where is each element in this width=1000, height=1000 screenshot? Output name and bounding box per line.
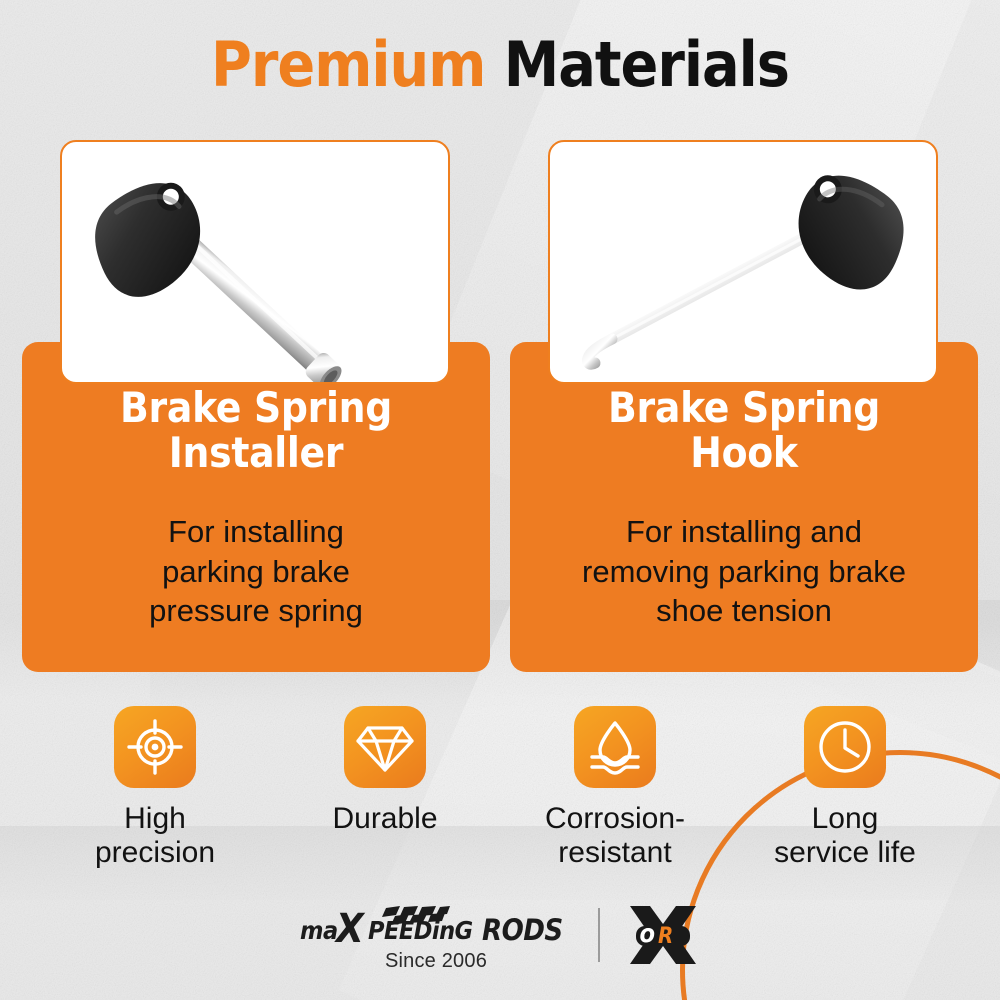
feature-label: Long service life [774, 802, 916, 869]
since-label: Since 2006 [385, 950, 487, 973]
brake-spring-installer-illustration [62, 142, 448, 382]
infographic-canvas: Premium Materials Brake Spring Installer… [0, 0, 1000, 1000]
target-icon [114, 706, 196, 788]
svg-text:PEEDinG: PEEDinG [368, 916, 473, 945]
product-title-installer: Brake Spring Installer [22, 386, 490, 475]
svg-text:X: X [334, 906, 366, 948]
water-drop-icon [574, 706, 656, 788]
feature-label: Durable [332, 802, 437, 836]
title-highlight: Premium [211, 28, 485, 101]
clock-icon [804, 706, 886, 788]
svg-text:ma: ma [300, 916, 338, 945]
product-card-installer: Brake Spring Installer For installing pa… [22, 342, 490, 672]
feature-corrosion-resistant: Corrosion- resistant [510, 706, 720, 869]
oxr-badge-icon: O R [626, 904, 700, 966]
feature-list: High precision Durable Corrosion- re [0, 706, 1000, 886]
maxpeedingrods-wordmark: ma X PEEDinG RODS [300, 906, 572, 948]
title-rest: Materials [504, 28, 789, 101]
feature-high-precision: High precision [50, 706, 260, 869]
brand-lockup: ma X PEEDinG RODS Since 2006 [300, 906, 572, 973]
footer-logo-row: ma X PEEDinG RODS Since 2006 O R [0, 906, 1000, 986]
product-description-hook: For installing and removing parking brak… [518, 512, 970, 631]
product-title-hook: Brake Spring Hook [510, 386, 978, 475]
svg-text:RODS: RODS [482, 913, 563, 947]
product-image-hook [548, 140, 938, 384]
diamond-icon [344, 706, 426, 788]
brake-spring-hook-illustration [550, 142, 936, 382]
svg-text:R: R [658, 924, 673, 949]
page-title: Premium Materials [0, 34, 1000, 96]
product-card-hook: Brake Spring Hook For installing and rem… [510, 342, 978, 672]
feature-label: Corrosion- resistant [545, 802, 685, 869]
feature-long-service-life: Long service life [740, 706, 950, 869]
product-image-installer [60, 140, 450, 384]
feature-label: High precision [95, 802, 215, 869]
product-description-installer: For installing parking brake pressure sp… [30, 512, 482, 631]
feature-durable: Durable [280, 706, 490, 836]
svg-text:O: O [640, 925, 655, 947]
footer-divider [598, 908, 600, 962]
